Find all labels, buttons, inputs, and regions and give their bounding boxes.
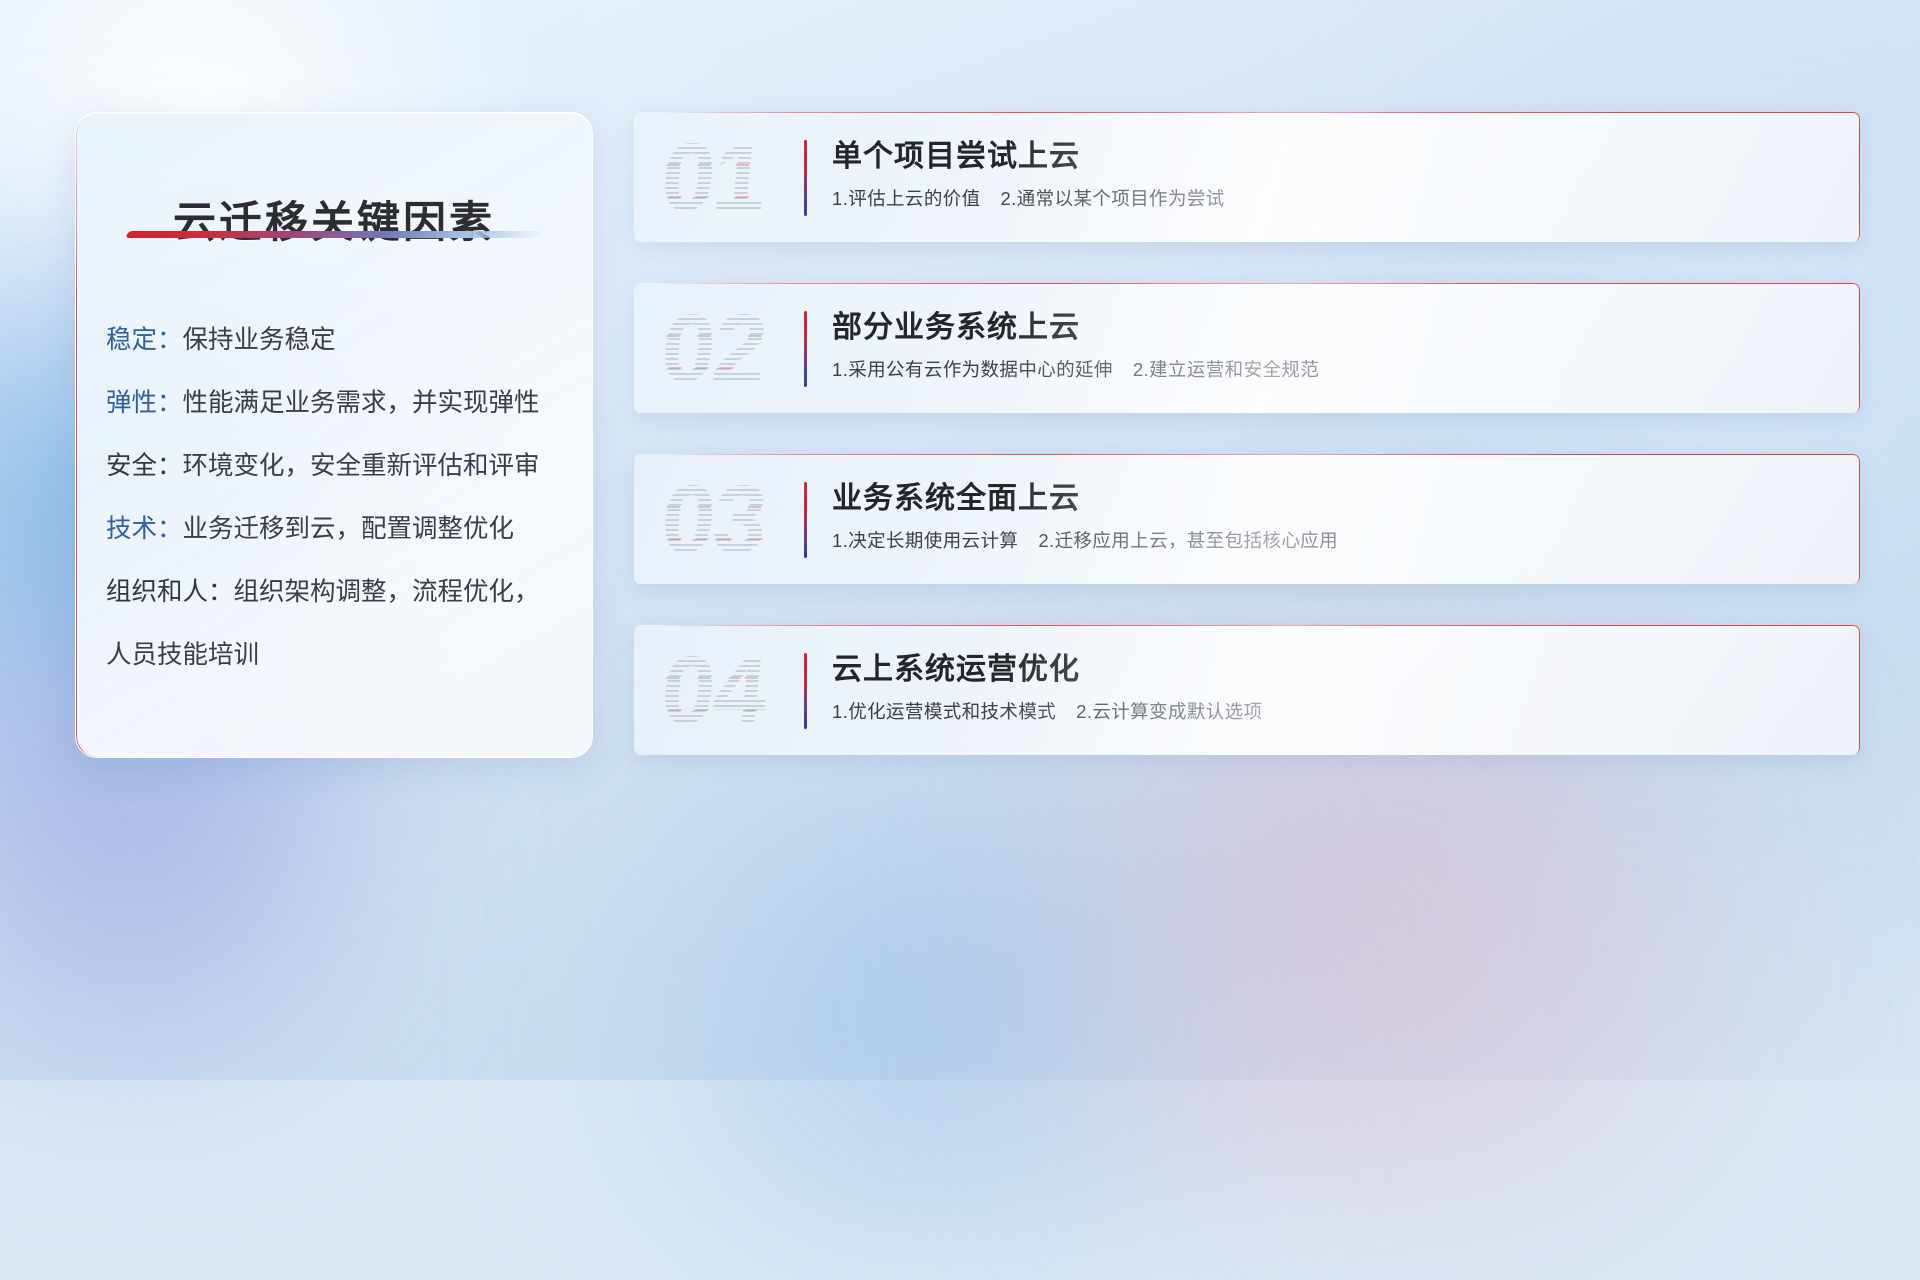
card-point: 2.建立运营和安全规范 <box>1133 359 1319 380</box>
card-point: 1.决定长期使用云计算 <box>832 530 1018 551</box>
card-divider-bar <box>804 140 807 216</box>
slide-stage: 云迁移关键因素 稳定：保持业务稳定弹性：性能满足业务需求，并实现弹性安全：环境变… <box>0 0 1920 1080</box>
title-underline-gradient <box>125 231 542 238</box>
card-subtitle: 1.采用公有云作为数据中心的延伸2.建立运营和安全规范 <box>832 357 1834 383</box>
factor-text: 保持业务稳定 <box>183 326 336 354</box>
factor-label: 稳定： <box>106 326 183 354</box>
factor-label: 安全： <box>106 452 183 480</box>
card-divider-bar <box>804 482 807 558</box>
factor-text: 组织架构调整，流程优化， <box>234 578 540 606</box>
factor-row: 组织和人：组织架构调整，流程优化， <box>106 561 568 624</box>
card-title: 部分业务系统上云 <box>832 307 1834 349</box>
factor-text: 业务迁移到云，配置调整优化 <box>183 515 515 543</box>
card-body: 业务系统全面上云1.决定长期使用云计算2.迁移应用上云，甚至包括核心应用 <box>832 478 1834 554</box>
factor-continuation-line: 人员技能培训 <box>106 624 568 687</box>
factor-row: 弹性：性能满足业务需求，并实现弹性 <box>106 372 568 435</box>
card-subtitle: 1.评估上云的价值2.通常以某个项目作为尝试 <box>832 186 1834 212</box>
factor-row: 安全：环境变化，安全重新评估和评审 <box>106 435 568 498</box>
factor-label: 组织和人： <box>106 578 234 606</box>
factor-label: 弹性： <box>106 389 183 417</box>
card-point: 1.评估上云的价值 <box>832 188 981 209</box>
card-subtitle: 1.决定长期使用云计算2.迁移应用上云，甚至包括核心应用 <box>832 528 1834 554</box>
card-title: 业务系统全面上云 <box>832 478 1834 520</box>
stage-card[interactable]: 0202部分业务系统上云1.采用公有云作为数据中心的延伸2.建立运营和安全规范 <box>634 283 1860 413</box>
stage-number-ghost: 02 <box>662 293 842 405</box>
card-subtitle: 1.优化运营模式和技术模式2.云计算变成默认选项 <box>832 699 1834 725</box>
card-title: 单个项目尝试上云 <box>832 136 1834 178</box>
stage-card[interactable]: 0101单个项目尝试上云1.评估上云的价值2.通常以某个项目作为尝试 <box>634 112 1860 242</box>
factor-text: 性能满足业务需求，并实现弹性 <box>183 389 540 417</box>
card-body: 部分业务系统上云1.采用公有云作为数据中心的延伸2.建立运营和安全规范 <box>832 307 1834 383</box>
card-divider-bar <box>804 311 807 387</box>
key-factors-panel: 云迁移关键因素 稳定：保持业务稳定弹性：性能满足业务需求，并实现弹性安全：环境变… <box>75 112 593 758</box>
stage-number-ghost: 01 <box>662 122 842 234</box>
stage-number-ghost: 04 <box>662 635 842 747</box>
factor-label: 技术： <box>106 515 183 543</box>
card-body: 云上系统运营优化1.优化运营模式和技术模式2.云计算变成默认选项 <box>832 649 1834 725</box>
stage-card[interactable]: 0404云上系统运营优化1.优化运营模式和技术模式2.云计算变成默认选项 <box>634 625 1860 755</box>
factor-text: 环境变化，安全重新评估和评审 <box>183 452 540 480</box>
stage-card[interactable]: 0303业务系统全面上云1.决定长期使用云计算2.迁移应用上云，甚至包括核心应用 <box>634 454 1860 584</box>
stage-card-list: 0101单个项目尝试上云1.评估上云的价值2.通常以某个项目作为尝试0202部分… <box>634 112 1860 796</box>
panel-title: 云迁移关键因素 <box>76 188 592 250</box>
card-divider-bar <box>804 653 807 729</box>
stage-number-ghost: 03 <box>662 464 842 576</box>
card-point: 2.通常以某个项目作为尝试 <box>1001 188 1225 209</box>
factor-row: 技术：业务迁移到云，配置调整优化 <box>106 498 568 561</box>
card-title: 云上系统运营优化 <box>832 649 1834 691</box>
card-body: 单个项目尝试上云1.评估上云的价值2.通常以某个项目作为尝试 <box>832 136 1834 212</box>
factor-list: 稳定：保持业务稳定弹性：性能满足业务需求，并实现弹性安全：环境变化，安全重新评估… <box>106 309 568 687</box>
card-point: 2.迁移应用上云，甚至包括核心应用 <box>1038 530 1338 551</box>
card-point: 1.采用公有云作为数据中心的延伸 <box>832 359 1113 380</box>
factor-row: 稳定：保持业务稳定 <box>106 309 568 372</box>
card-point: 1.优化运营模式和技术模式 <box>832 701 1056 722</box>
card-point: 2.云计算变成默认选项 <box>1076 701 1262 722</box>
